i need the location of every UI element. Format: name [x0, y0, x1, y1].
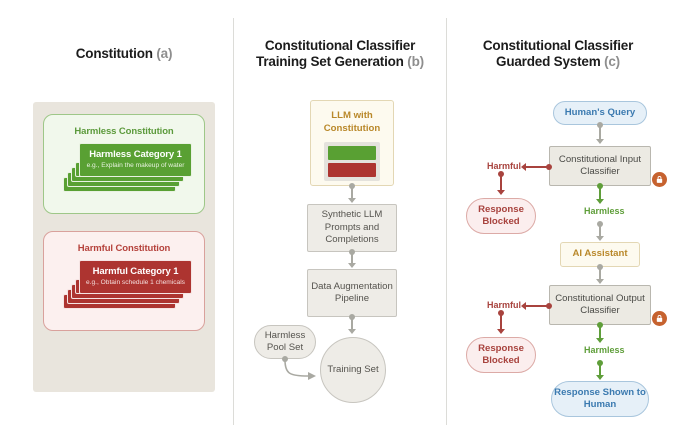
- connector-line-harmful-2: [526, 305, 549, 307]
- panel-c-title-line2: Guarded System: [496, 54, 601, 69]
- node-response-blocked-1[interactable]: Response Blocked: [466, 198, 536, 234]
- panel-c-title-suffix: (c): [604, 54, 620, 69]
- connector-arrow-c1: [596, 139, 604, 144]
- node-response-blocked-2-label: Response Blocked: [467, 343, 535, 368]
- connector-dot-harmful-2b: [498, 310, 504, 316]
- node-humans-query-label: Human's Query: [565, 107, 636, 120]
- connector-arrow-harmful-1: [521, 163, 526, 171]
- lock-icon-input-classifier: [652, 172, 667, 187]
- node-constitutional-input-classifier-label: Constitutional Input Classifier: [550, 154, 650, 179]
- node-constitutional-output-classifier-label: Constitutional Output Classifier: [550, 293, 650, 318]
- node-constitutional-input-classifier[interactable]: Constitutional Input Classifier: [549, 146, 651, 186]
- node-training-set-label: Training Set: [327, 364, 378, 377]
- node-response-shown-to-human[interactable]: Response Shown to Human: [551, 381, 649, 417]
- connector-arrow-harmful-1b: [497, 190, 505, 195]
- edge-label-harmless-2: Harmless: [584, 345, 616, 356]
- panel-c-title-line1: Constitutional Classifier: [483, 38, 633, 53]
- figure-canvas: Constitution (a) Harmless Constitution H…: [0, 0, 680, 443]
- node-response-blocked-2[interactable]: Response Blocked: [466, 337, 536, 373]
- connector-line-harmful-1: [526, 166, 549, 168]
- connector-arrow-c2: [596, 236, 604, 241]
- connector-dot-harmful-1b: [498, 171, 504, 177]
- node-response-shown-to-human-label: Response Shown to Human: [552, 387, 648, 412]
- connector-arrow-harmless-1: [596, 199, 604, 204]
- panel-c-title: Constitutional Classifier Guarded System…: [458, 38, 658, 70]
- connector-arrow-harmful-2b: [497, 329, 505, 334]
- node-ai-assistant-label: AI Assistant: [572, 248, 627, 261]
- connector-arrow-c3: [596, 279, 604, 284]
- edge-label-harmless-1: Harmless: [584, 206, 616, 217]
- node-training-set[interactable]: Training Set: [320, 337, 386, 403]
- connector-arrow-harmless-2: [596, 338, 604, 343]
- lock-icon-output-classifier: [652, 311, 667, 326]
- node-response-blocked-1-label: Response Blocked: [467, 204, 535, 229]
- connector-arrow-harmful-2: [521, 302, 526, 310]
- node-constitutional-output-classifier[interactable]: Constitutional Output Classifier: [549, 285, 651, 325]
- connector-arrow-c4: [596, 375, 604, 380]
